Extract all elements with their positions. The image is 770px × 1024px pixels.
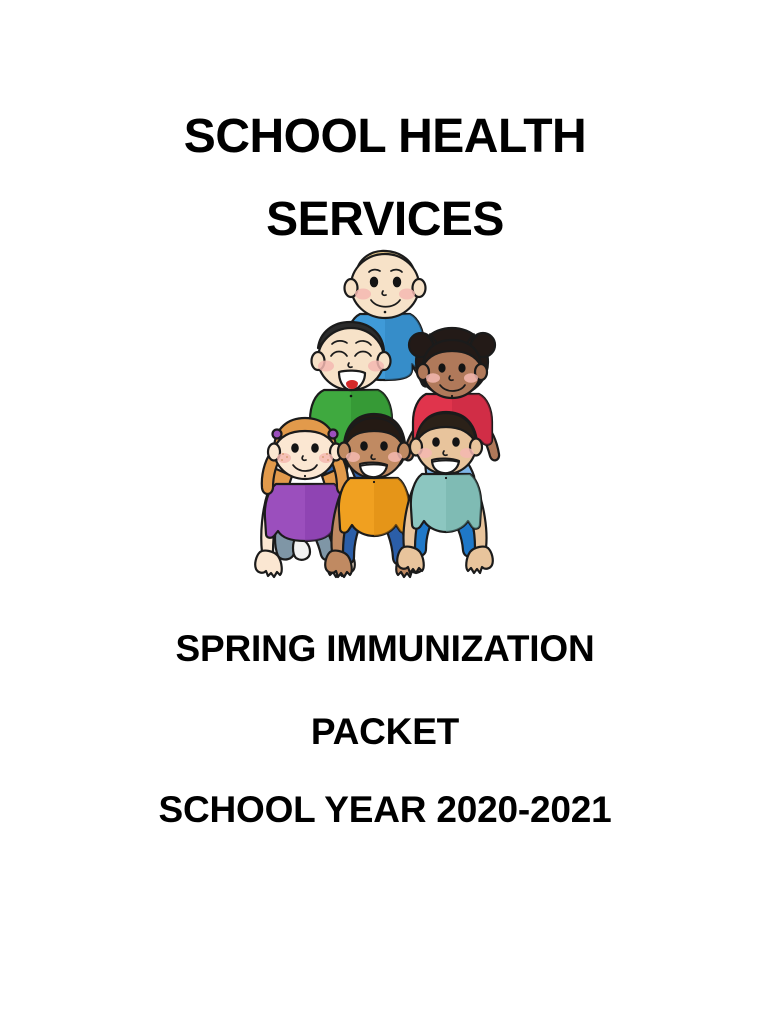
page-title: SCHOOL HEALTH SERVICES xyxy=(0,96,770,261)
children-pyramid-icon: .ol { stroke:#1b1b1b; stroke-width:2.2; … xyxy=(254,246,516,586)
cover-page: SCHOOL HEALTH SERVICES .ol { stroke:#1b1… xyxy=(0,0,770,1024)
illustration-container: .ol { stroke:#1b1b1b; stroke-width:2.2; … xyxy=(0,246,770,586)
subtitle-line-3: SCHOOL YEAR 2020-2021 xyxy=(0,774,770,846)
cover-subtitle: SPRING IMMUNIZATION PACKET SCHOOL YEAR 2… xyxy=(0,608,770,846)
title-line-1: SCHOOL HEALTH xyxy=(0,96,770,179)
subtitle-line-1: SPRING IMMUNIZATION xyxy=(0,608,770,691)
subtitle-line-2: PACKET xyxy=(0,691,770,774)
